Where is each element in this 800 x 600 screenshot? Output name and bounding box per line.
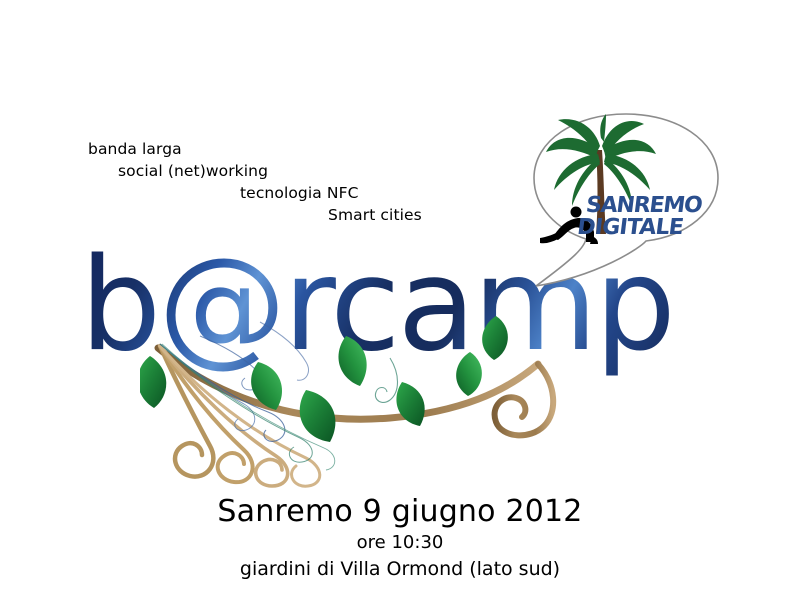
- keyword-item: banda larga: [88, 138, 508, 160]
- sanremo-digitale-wordmark: SANREMO DIGITALE: [576, 193, 704, 240]
- keyword-item: social (net)working: [118, 160, 508, 182]
- event-details: Sanremo 9 giugno 2012 ore 10:30 giardini…: [0, 494, 800, 582]
- event-time: ore 10:30: [0, 530, 800, 556]
- logo-line-2: DIGITALE: [576, 215, 685, 240]
- keyword-item: tecnologia NFC: [240, 182, 508, 204]
- keyword-list: banda larga social (net)working tecnolog…: [88, 138, 508, 226]
- speech-bubble-logo: SANREMO DIGITALE: [528, 108, 724, 294]
- wordmark-container: b@rcamp: [80, 236, 600, 406]
- poster-canvas: banda larga social (net)working tecnolog…: [0, 0, 800, 600]
- event-date: Sanremo 9 giugno 2012: [0, 494, 800, 530]
- keyword-item: Smart cities: [328, 204, 508, 226]
- event-location: giardini di Villa Ormond (lato sud): [0, 556, 800, 582]
